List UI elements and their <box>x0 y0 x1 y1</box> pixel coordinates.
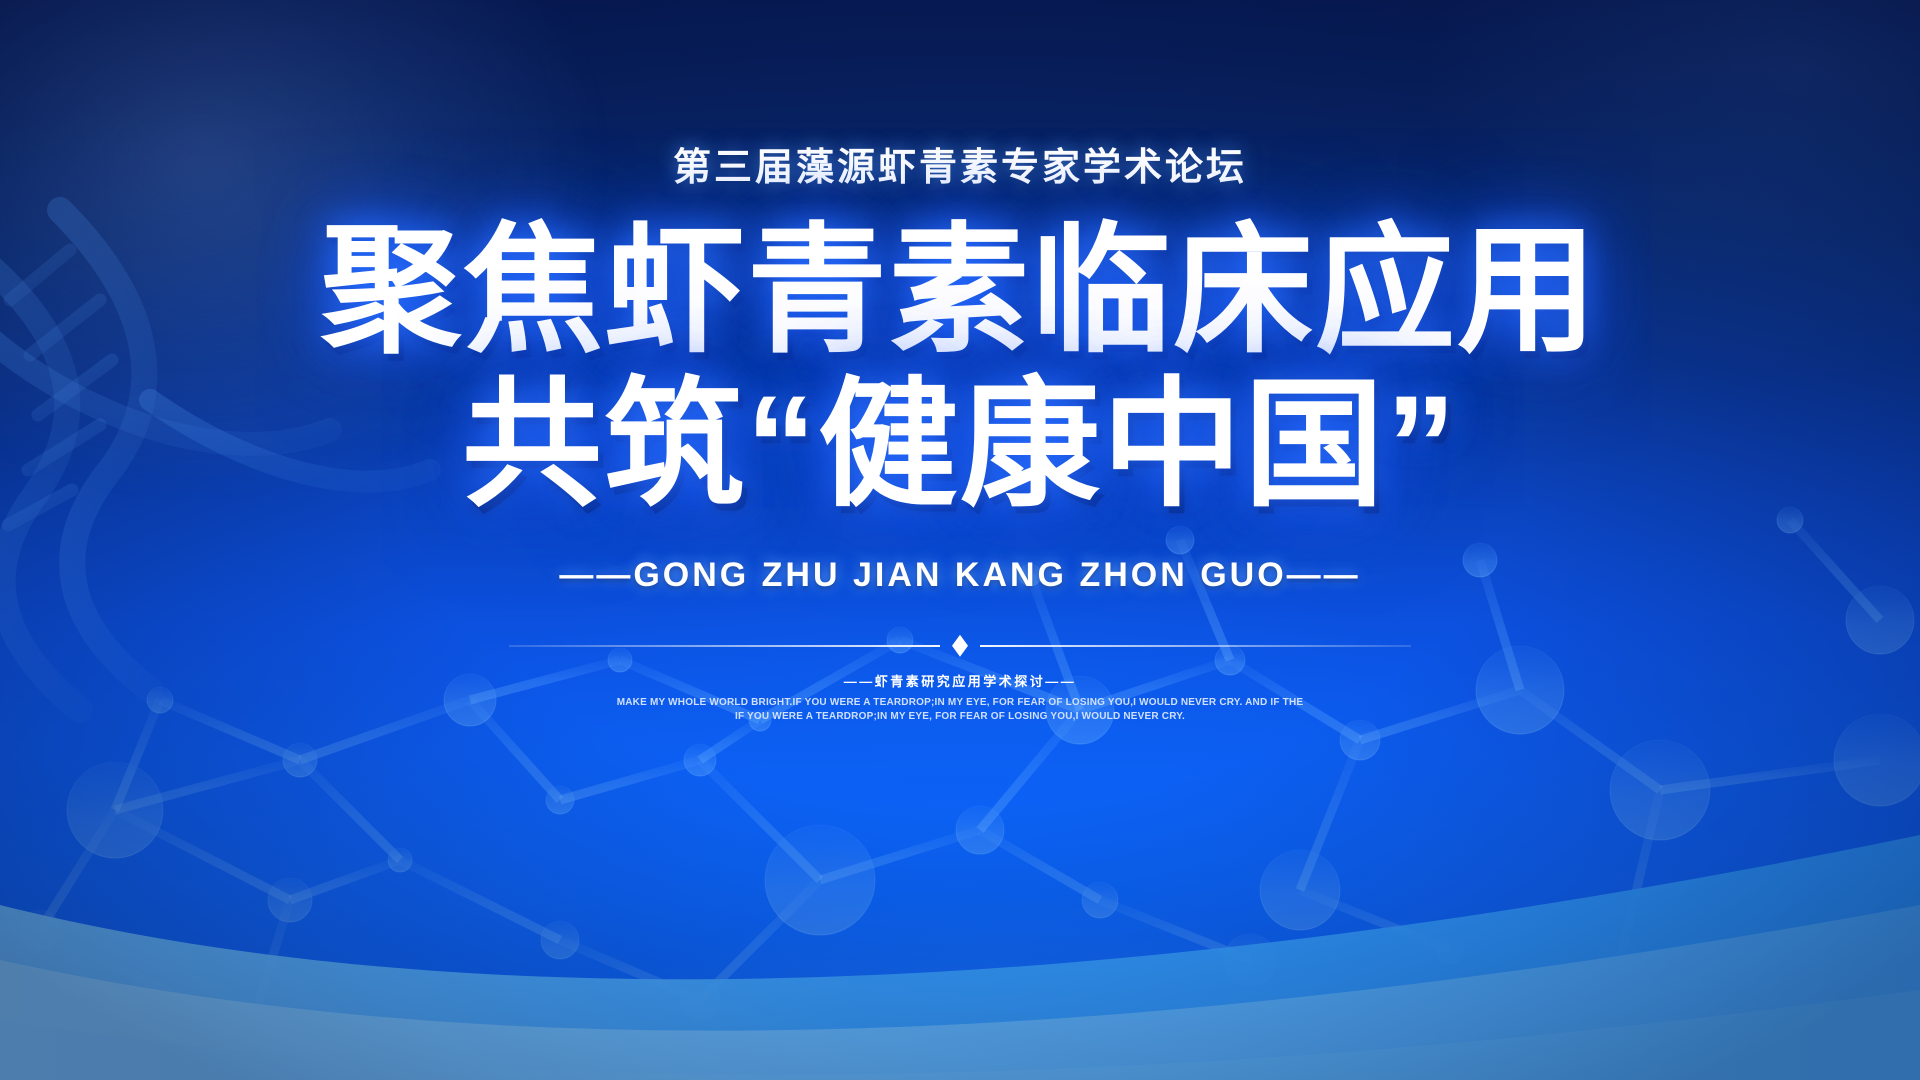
main-title-line-1: 聚焦虾青素临床应用 <box>321 217 1599 365</box>
main-title-block: 聚焦虾青素临床应用 共筑“健康中国” <box>321 217 1599 520</box>
event-eyebrow-title: 第三届藻源虾青素专家学术论坛 <box>673 136 1247 191</box>
poster-content: 第三届藻源虾青素专家学术论坛 聚焦虾青素临床应用 共筑“健康中国” ——GONG… <box>0 0 1920 1080</box>
english-blurb-line-2: IF YOU WERE A TEARDROP;IN MY EYE, FOR FE… <box>610 710 1310 725</box>
english-blurb: MAKE MY WHOLE WORLD BRIGHT.IF YOU WERE A… <box>610 696 1310 725</box>
divider-line-left <box>509 645 940 647</box>
ornamental-divider <box>509 635 1411 657</box>
diamond-icon <box>952 635 968 657</box>
english-blurb-line-1: MAKE MY WHOLE WORLD BRIGHT.IF YOU WERE A… <box>610 696 1310 711</box>
secondary-chinese-subtitle: ——虾青素研究应用学术探讨—— <box>844 671 1077 690</box>
pinyin-subtitle: ——GONG ZHU JIAN KANG ZHON GUO—— <box>559 556 1360 595</box>
divider-line-right <box>980 645 1411 647</box>
conference-poster: 第三届藻源虾青素专家学术论坛 聚焦虾青素临床应用 共筑“健康中国” ——GONG… <box>0 0 1920 1080</box>
main-title-line-2: 共筑“健康中国” <box>321 371 1599 519</box>
